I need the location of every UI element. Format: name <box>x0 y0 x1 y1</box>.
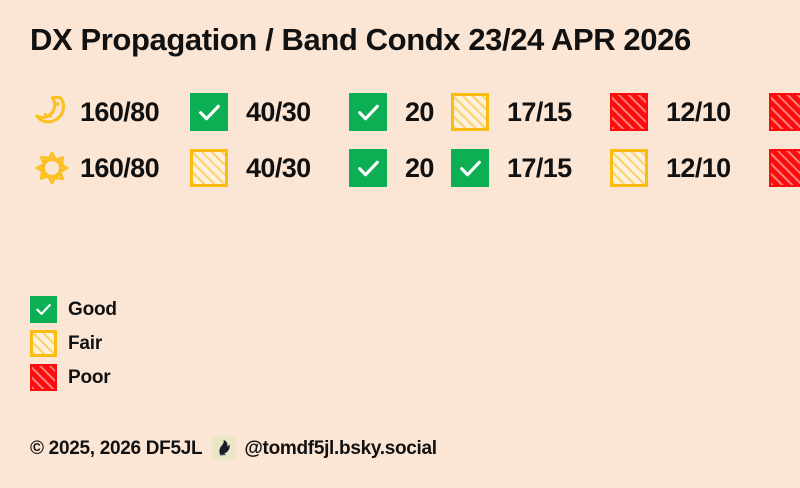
condition-swatch-good <box>190 93 228 131</box>
condition-swatch-fair <box>451 93 489 131</box>
band-cell-40-30: 40/30 <box>246 90 387 134</box>
band-label: 12/10 <box>666 99 769 126</box>
band-row-day: 160/8040/302017/1512/10 <box>24 140 784 196</box>
page-title: DX Propagation / Band Condx 23/24 APR 20… <box>30 22 691 58</box>
band-cell-17-15: 17/15 <box>507 90 648 134</box>
band-cell-20: 20 <box>405 90 489 134</box>
bluesky-bird-icon <box>212 436 236 460</box>
check-icon <box>196 99 223 126</box>
legend-item-poor: Poor <box>30 360 117 394</box>
condition-swatch-poor <box>769 149 800 187</box>
check-icon <box>355 99 382 126</box>
band-label: 17/15 <box>507 99 610 126</box>
legend-item-fair: Fair <box>30 326 117 360</box>
condition-swatch-poor <box>610 93 648 131</box>
band-cell-12-10: 12/10 <box>666 90 800 134</box>
condition-swatch-good <box>451 149 489 187</box>
check-icon <box>32 298 55 321</box>
condition-swatch-fair <box>30 330 57 357</box>
bluesky-handle: @tomdf5jl.bsky.social <box>244 439 436 458</box>
band-label: 17/15 <box>507 155 610 182</box>
band-label: 20 <box>405 99 451 126</box>
condition-swatch-good <box>349 149 387 187</box>
band-cell-20: 20 <box>405 146 489 190</box>
copyright-text: © 2025, 2026 DF5JL <box>30 439 202 458</box>
band-cell-17-15: 17/15 <box>507 146 648 190</box>
legend-item-good: Good <box>30 292 117 326</box>
condition-swatch-fair <box>190 149 228 187</box>
check-icon <box>192 95 226 129</box>
check-icon <box>457 155 484 182</box>
band-row-night: 160/8040/302017/1512/10 <box>24 84 784 140</box>
check-icon <box>34 300 53 319</box>
legend-label: Fair <box>68 334 102 353</box>
band-label: 40/30 <box>246 155 349 182</box>
moon-icon <box>32 92 72 132</box>
footer: © 2025, 2026 DF5JL @tomdf5jl.bsky.social <box>30 436 437 460</box>
check-icon <box>351 95 385 129</box>
band-cell-12-10: 12/10 <box>666 146 800 190</box>
legend-label: Good <box>68 300 117 319</box>
condition-swatch-poor <box>769 93 800 131</box>
condition-swatch-fair <box>610 149 648 187</box>
band-cell-160-80: 160/80 <box>80 146 228 190</box>
band-conditions-table: 160/8040/302017/1512/10160/8040/302017/1… <box>24 84 784 196</box>
check-icon <box>355 155 382 182</box>
sun-icon <box>32 148 72 188</box>
band-label: 40/30 <box>246 99 349 126</box>
band-label: 12/10 <box>666 155 769 182</box>
band-label: 20 <box>405 155 451 182</box>
check-icon <box>351 151 385 185</box>
moon-icon <box>24 90 80 134</box>
check-icon <box>453 151 487 185</box>
condition-swatch-good <box>30 296 57 323</box>
band-cell-40-30: 40/30 <box>246 146 387 190</box>
legend-label: Poor <box>68 368 110 387</box>
band-label: 160/80 <box>80 155 190 182</box>
band-label: 160/80 <box>80 99 190 126</box>
legend: GoodFairPoor <box>30 292 117 394</box>
band-cell-160-80: 160/80 <box>80 90 228 134</box>
sun-icon <box>24 146 80 190</box>
condition-swatch-good <box>349 93 387 131</box>
condition-swatch-poor <box>30 364 57 391</box>
